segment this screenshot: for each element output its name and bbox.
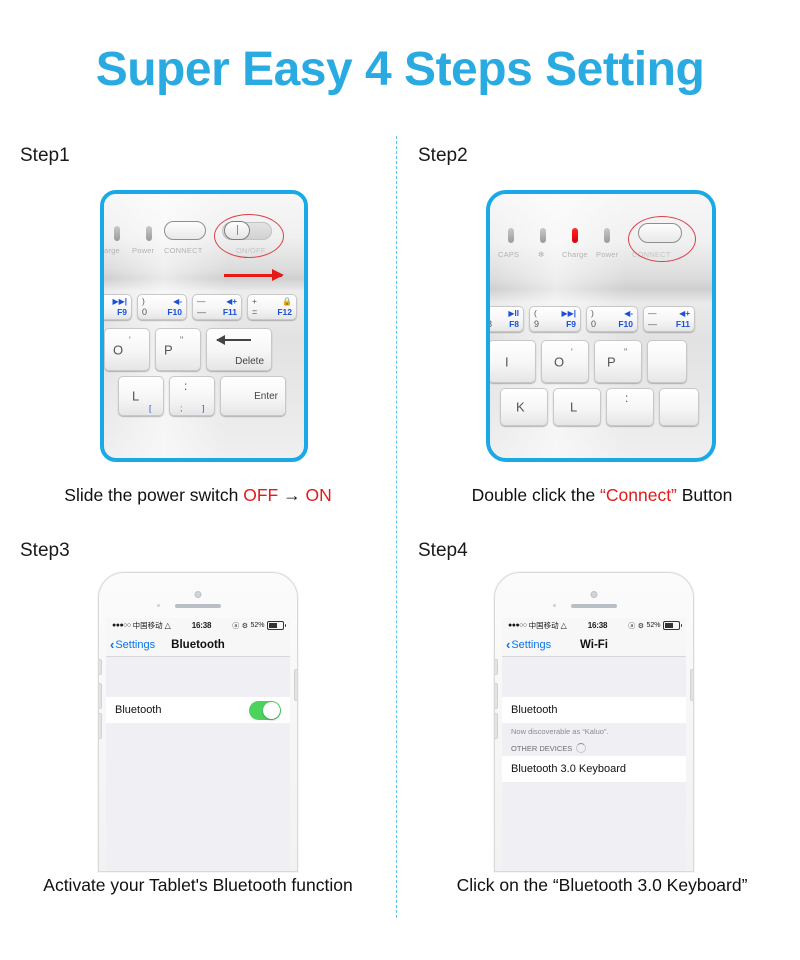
keyboard-letter-row-step1: O ' P " Delete — [104, 328, 272, 371]
backspace-arrow-icon — [217, 339, 251, 341]
alarm-icon: ⓐ — [628, 621, 635, 631]
key-p-label: P — [607, 354, 616, 369]
earpiece-speaker — [571, 604, 617, 608]
key-f10-base: 0 — [142, 307, 147, 317]
key-f10-icon: ◀- — [173, 297, 182, 306]
key-l-bracket: [ — [149, 403, 151, 413]
list-spacer — [502, 657, 686, 697]
key-o-sup: ' — [571, 347, 573, 357]
key-f9-icon: ▶▶| — [112, 297, 127, 306]
key-semicolon-base: ; — [180, 403, 182, 413]
toggle-knob — [263, 702, 280, 719]
status-bar: ●●●○○ 中国移动 △ 16:38 ⓐ ⚙ 52% — [106, 618, 290, 633]
front-camera-icon — [195, 591, 202, 598]
key-f11[interactable]: — ◀+ — F11 — [643, 306, 695, 332]
key-p-label: P — [164, 342, 173, 357]
step-2-caption-pre: Double click the — [472, 485, 600, 505]
key-f11-base: — — [648, 319, 657, 329]
key-o-label: O — [554, 354, 564, 369]
step-4-caption: Click on the “Bluetooth 3.0 Keyboard” — [404, 875, 800, 896]
step-3-caption: Activate your Tablet's Bluetooth functio… — [0, 875, 396, 896]
carrier-label: 中国移动 — [529, 620, 559, 631]
status-right: ⓐ ⚙ 52% — [628, 621, 680, 631]
led-power — [146, 226, 152, 241]
key-semicolon[interactable]: : — [606, 388, 654, 426]
keyboard-bottom-row-step1: L [ : ; ] Enter — [118, 376, 286, 416]
phone-screen-step4: ●●●○○ 中国移动 △ 16:38 ⓐ ⚙ 52% ‹ S — [502, 618, 686, 870]
bluetooth-row-label: Bluetooth — [511, 704, 557, 716]
volume-up-button[interactable] — [98, 683, 102, 709]
phone-mockup-step4: ●●●○○ 中国移动 △ 16:38 ⓐ ⚙ 52% ‹ S — [494, 572, 694, 872]
key-f12-base: = — [252, 307, 257, 317]
step-1-label: Step1 — [20, 145, 70, 167]
step-1-caption: Slide the power switch OFF → ON — [0, 485, 396, 506]
rotation-lock-icon: ⚙ — [242, 622, 248, 630]
key-f9-shift: ( — [534, 308, 537, 318]
other-devices-header: OTHER DEVICES — [502, 738, 686, 756]
step-2-caption: Double click the “Connect” Button — [404, 485, 800, 506]
proximity-sensor-icon — [157, 604, 160, 607]
led-label-connect: CONNECT — [164, 246, 202, 255]
key-f9-fn: F9 — [117, 307, 127, 317]
key-f11-shift: — — [648, 308, 657, 318]
key-f10-fn: F10 — [618, 319, 633, 329]
led-caps — [508, 228, 514, 243]
power-button[interactable] — [690, 669, 694, 701]
key-delete-label: Delete — [235, 356, 264, 367]
nav-title: Bluetooth — [106, 639, 290, 651]
key-f10-fn: F10 — [167, 307, 182, 317]
key-o[interactable]: O ' — [541, 340, 589, 383]
step-4-cell: Step4 ●●●○○ 中国移动 △ 16:38 ⓐ — [404, 540, 800, 910]
key-f10[interactable]: ) ◀- 0 F10 — [137, 294, 187, 320]
key-l[interactable]: L [ — [118, 376, 164, 416]
step-2-caption-post: Button — [677, 485, 732, 505]
bluetooth-keyboard-device-row[interactable]: Bluetooth 3.0 Keyboard — [502, 756, 686, 782]
key-f8[interactable]: ▶II 8 F8 — [486, 306, 524, 332]
bluetooth-icon: ✻ — [538, 250, 544, 259]
key-i[interactable]: I — [488, 340, 536, 383]
status-time: 16:38 — [171, 621, 232, 630]
signal-icon: ●●●○○ — [112, 622, 131, 629]
vertical-divider — [396, 136, 397, 918]
key-f10-shift: ) — [142, 296, 145, 306]
page-title: Super Easy 4 Steps Setting — [0, 40, 800, 100]
keyboard-bottom-row-step2: K L : — [500, 388, 699, 426]
key-semicolon-bracket: ] — [202, 403, 204, 413]
bluetooth-row[interactable]: Bluetooth — [502, 697, 686, 723]
key-f11[interactable]: — ◀+ — F11 — [192, 294, 242, 320]
key-k-label: K — [516, 400, 525, 415]
key-partial-right[interactable] — [647, 340, 687, 383]
status-left: ●●●○○ 中国移动 △ — [508, 620, 567, 631]
carrier-label: 中国移动 — [133, 620, 163, 631]
bluetooth-keyboard-label: Bluetooth 3.0 Keyboard — [511, 763, 626, 775]
battery-percent: 52% — [646, 622, 660, 629]
key-enter-label: Enter — [254, 391, 278, 402]
step-2-caption-connect: “Connect” — [600, 485, 677, 505]
key-f9[interactable]: ( ▶▶| 9 F9 — [529, 306, 581, 332]
led-label-power: Power — [596, 250, 618, 259]
silent-switch[interactable] — [494, 659, 498, 675]
key-f11-fn: F11 — [223, 307, 237, 317]
alarm-icon: ⓐ — [232, 621, 239, 631]
step-1-caption-off: OFF — [243, 485, 278, 505]
bluetooth-toggle-row[interactable]: Bluetooth — [106, 697, 290, 723]
step-1-caption-arrow: → — [278, 485, 305, 505]
phone-screen-step3: ●●●○○ 中国移动 △ 16:38 ⓐ ⚙ 52% ‹ S — [106, 618, 290, 870]
key-f9-fn: F9 — [566, 319, 576, 329]
red-arrow-right — [224, 274, 282, 277]
phone-mockup-step3: ●●●○○ 中国移动 △ 16:38 ⓐ ⚙ 52% ‹ S — [98, 572, 298, 872]
key-f10-shift: ) — [591, 308, 594, 318]
battery-icon — [267, 621, 284, 630]
key-p-sup: " — [624, 347, 627, 357]
step-3-caption-text: Activate your Tablet's Bluetooth functio… — [43, 875, 352, 895]
keyboard-letter-row-step2: I O ' P " — [488, 340, 687, 383]
bluetooth-row-label: Bluetooth — [115, 704, 161, 716]
earpiece-speaker — [175, 604, 221, 608]
nav-bar: ‹ Settings Bluetooth — [106, 633, 290, 657]
volume-up-button[interactable] — [494, 683, 498, 709]
highlight-ellipse-connect-button — [628, 216, 696, 262]
key-f11-icon: ◀+ — [226, 297, 237, 306]
key-f11-base: — — [197, 307, 206, 317]
key-i-label: I — [505, 354, 509, 369]
key-p[interactable]: P " — [594, 340, 642, 383]
step-1-cell: Step1 arge Power CONNECT ON/OFF — [0, 145, 396, 520]
key-f11-icon: ◀+ — [679, 309, 690, 318]
led-charge — [572, 228, 578, 243]
signal-icon: ●●●○○ — [508, 622, 527, 629]
key-l-label: L — [132, 389, 139, 404]
key-p[interactable]: P " — [155, 328, 201, 371]
key-enter[interactable]: Enter — [220, 376, 286, 416]
key-f10-icon: ◀- — [624, 309, 633, 318]
key-o-sup: ' — [129, 335, 131, 345]
key-f9-base: 9 — [534, 319, 539, 329]
front-camera-icon — [591, 591, 598, 598]
highlight-ellipse-power-switch — [214, 214, 284, 258]
key-f9-icon: ▶▶| — [561, 309, 576, 318]
silent-switch[interactable] — [98, 659, 102, 675]
key-semicolon-colon: : — [184, 383, 187, 390]
power-button[interactable] — [294, 669, 298, 701]
key-f12-fn: F12 — [277, 307, 292, 317]
led-label-caps: CAPS — [498, 250, 519, 259]
key-l[interactable]: L — [553, 388, 601, 426]
battery-percent: 52% — [250, 622, 264, 629]
key-f11-fn: F11 — [676, 319, 690, 329]
proximity-sensor-icon — [553, 604, 556, 607]
key-f12[interactable]: + 🔒 = F12 — [247, 294, 297, 320]
key-f8-fn: F8 — [509, 319, 519, 329]
connect-button[interactable] — [164, 221, 206, 240]
led-bluetooth — [540, 228, 546, 243]
key-f11-shift: — — [197, 296, 206, 306]
key-partial-right[interactable] — [659, 388, 699, 426]
led-charge — [114, 226, 120, 241]
bluetooth-toggle[interactable] — [249, 701, 281, 720]
step-3-label: Step3 — [20, 540, 70, 562]
status-time: 16:38 — [567, 621, 628, 630]
key-p-sup: " — [180, 335, 183, 345]
step-4-caption-text: Click on the “Bluetooth 3.0 Keyboard” — [457, 875, 748, 895]
step-2-label: Step2 — [418, 145, 468, 167]
step-3-cell: Step3 ●●●○○ 中国移动 △ 16:38 ⓐ — [0, 540, 396, 910]
keyboard-photo-step2: CAPS ✻ Charge Power CONNECT ▶II 8 F8 ( ▶… — [486, 190, 716, 462]
status-right: ⓐ ⚙ 52% — [232, 621, 284, 631]
key-o-label: O — [113, 342, 123, 357]
step-1-caption-on: ON — [305, 485, 331, 505]
list-spacer — [106, 657, 290, 697]
step-4-label: Step4 — [418, 540, 468, 562]
key-o[interactable]: O ' — [104, 328, 150, 371]
keyboard-fn-row-step2: ▶II 8 F8 ( ▶▶| 9 F9 ) ◀- 0 F10 — — [486, 306, 695, 332]
step-2-cell: Step2 CAPS ✻ Charge Power CONNECT ▶II 8 … — [404, 145, 800, 520]
loading-spinner-icon — [576, 743, 586, 753]
volume-down-button[interactable] — [98, 713, 102, 739]
key-f8-base: 8 — [487, 319, 492, 329]
battery-icon — [663, 621, 680, 630]
led-label-charge: arge — [104, 246, 120, 255]
key-semicolon-label: : — [625, 395, 628, 402]
led-power — [604, 228, 610, 243]
step-1-caption-pre: Slide the power switch — [64, 485, 243, 505]
key-k[interactable]: K — [500, 388, 548, 426]
key-l-label: L — [570, 400, 577, 415]
status-left: ●●●○○ 中国移动 △ — [112, 620, 171, 631]
lock-icon: 🔒 — [282, 297, 292, 306]
status-bar: ●●●○○ 中国移动 △ 16:38 ⓐ ⚙ 52% — [502, 618, 686, 633]
key-f9[interactable]: ▶▶| F9 — [100, 294, 132, 320]
key-f8-icon: ▶II — [508, 309, 519, 318]
nav-title: Wi-Fi — [502, 639, 686, 651]
volume-down-button[interactable] — [494, 713, 498, 739]
other-devices-label: OTHER DEVICES — [511, 744, 572, 753]
key-f10-base: 0 — [591, 319, 596, 329]
led-label-power: Power — [132, 246, 154, 255]
keyboard-photo-step1: arge Power CONNECT ON/OFF ▶▶| F9 ) — [100, 190, 308, 462]
rotation-lock-icon: ⚙ — [638, 622, 644, 630]
key-semicolon[interactable]: : ; ] — [169, 376, 215, 416]
key-delete[interactable]: Delete — [206, 328, 272, 371]
led-label-charge: Charge — [562, 250, 588, 259]
key-f10[interactable]: ) ◀- 0 F10 — [586, 306, 638, 332]
nav-bar: ‹ Settings Wi-Fi — [502, 633, 686, 657]
steps-infographic: Super Easy 4 Steps Setting Step1 arge Po… — [0, 0, 800, 960]
key-f12-shift: + — [252, 296, 257, 306]
discoverable-footnote: Now discoverable as “Kaluo”. — [502, 723, 686, 738]
keyboard-fn-row-step1: ▶▶| F9 ) ◀- 0 F10 — ◀+ — F11 + 🔒 — [100, 294, 297, 320]
